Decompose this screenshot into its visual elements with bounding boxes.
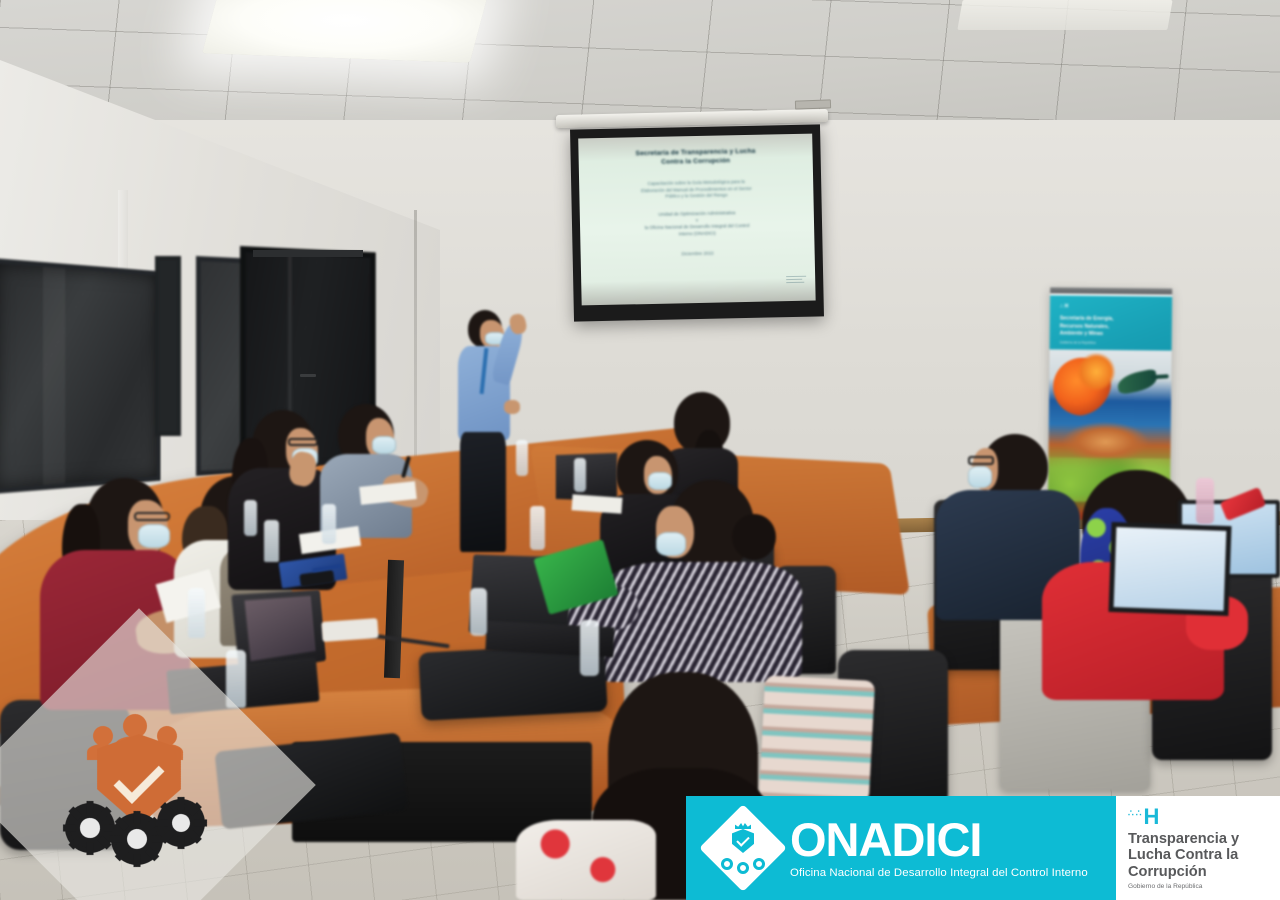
projection-screen-surface: Secretaría de Transparencia y Lucha Cont… (578, 134, 815, 306)
hummingbird-icon (1116, 369, 1159, 396)
window-left-narrow (155, 256, 181, 436)
ceiling-light-panel-secondary (957, 0, 1172, 30)
rollup-banner-org: Secretaría de Energía, Recursos Naturale… (1060, 315, 1156, 345)
water-bottle-11 (244, 500, 257, 536)
laptop-top-center[interactable] (556, 453, 617, 501)
water-bottle-8 (574, 458, 586, 492)
crown-icon (735, 823, 751, 829)
person-attendee-striped (592, 480, 812, 680)
silver-face-mask (372, 436, 396, 454)
water-bottle-6 (530, 506, 545, 550)
presenter-hand-lower (504, 400, 520, 414)
water-bottle-3 (264, 520, 279, 562)
window-left-large (0, 258, 161, 494)
secretaria-line1: Transparencia y (1128, 831, 1239, 847)
rollup-org-footnote: Gobierno de la República (1060, 340, 1156, 346)
water-bottle-2 (188, 588, 205, 638)
striped-face-mask (656, 532, 686, 556)
laptop-right-far[interactable] (1108, 522, 1231, 616)
water-bottle-9 (580, 620, 599, 676)
water-bottle-10 (1196, 478, 1214, 524)
maroon-face-mask (138, 524, 170, 548)
honduras-h-letter: H (1143, 804, 1158, 829)
watermark-emblem (64, 710, 214, 860)
honduras-h-logo: ∴∴H (1128, 806, 1239, 828)
secretaria-line2: Lucha Contra la (1128, 847, 1239, 863)
shield-check-icon (732, 829, 754, 853)
rollup-banner-rail (1048, 287, 1172, 294)
ceiling-light-panel (202, 0, 488, 63)
onadici-diamond-emblem (699, 804, 787, 892)
slide-date: Diciembre 2022 (595, 249, 801, 258)
slide-corner-logo (786, 276, 806, 285)
rollup-banner-logo-h: ∴H (1060, 303, 1070, 314)
water-bottle-5 (470, 588, 487, 636)
power-strip (321, 618, 378, 642)
water-bottle-7 (516, 440, 528, 476)
navy-glasses (968, 456, 994, 465)
laptop-left-screen (245, 596, 316, 661)
onadici-brand-block: ONADICI Oficina Nacional de Desarrollo I… (686, 796, 1104, 900)
gear-icon-center (737, 862, 749, 874)
gear-icon-right (753, 858, 765, 870)
onadici-tagline: Oficina Nacional de Desarrollo Integral … (790, 867, 1088, 880)
blazer-glasses (288, 438, 318, 446)
backpack-patterned (759, 675, 875, 803)
door-transom (253, 250, 363, 257)
foreground-shirt (516, 820, 656, 900)
water-bottle-4 (322, 504, 336, 544)
presentation-slide: Secretaría de Transparencia y Lucha Cont… (578, 146, 814, 259)
projection-screen: Secretaría de Transparencia y Lucha Cont… (570, 124, 824, 321)
watermark-gears-icon (64, 796, 214, 866)
rollup-org-line3: Ambiente y Minas (1060, 331, 1156, 340)
navy-face-mask (968, 466, 992, 488)
brand-bar: ONADICI Oficina Nacional de Desarrollo I… (686, 796, 1280, 900)
striped-bun (732, 514, 776, 560)
person-presenter (452, 304, 562, 554)
gear-icon-left (721, 858, 733, 870)
presenter-trousers (460, 432, 506, 552)
maroon-glasses (134, 512, 170, 521)
secretaria-brand-block: ∴∴H Transparencia y Lucha Contra la Corr… (1104, 796, 1280, 900)
onadici-wordmark: ONADICI (790, 816, 1088, 863)
secretaria-footnote: Gobierno de la República (1128, 883, 1239, 890)
photo-stage: Secretaría de Transparencia y Lucha Cont… (0, 0, 1280, 900)
rollup-tree-right (1077, 352, 1115, 392)
secretaria-line3: Corrupción (1128, 864, 1239, 880)
notebook-white-3 (572, 494, 623, 513)
door-handle[interactable] (300, 374, 316, 377)
